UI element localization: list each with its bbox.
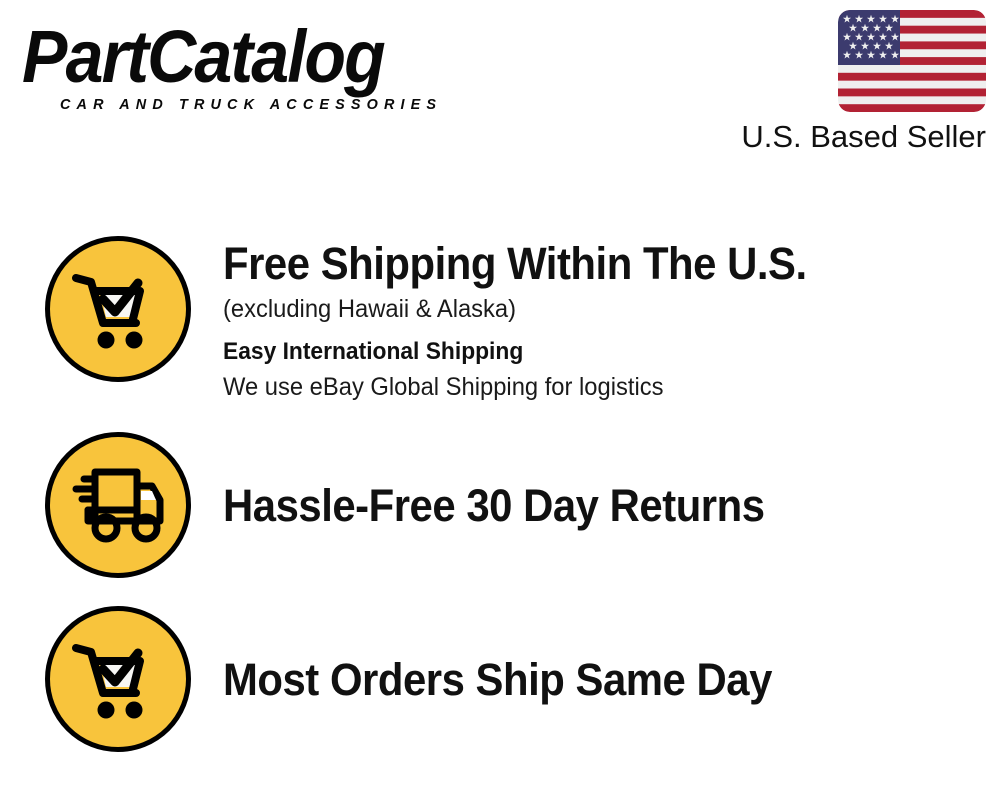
feature-subtitle-bold: Easy International Shipping [223, 335, 961, 369]
shopping-cart-check-icon [45, 606, 191, 752]
us-based-seller-badge: U.S. Based Seller [716, 10, 986, 156]
brand-logo: PartCatalog CAR AND TRUCK ACCESSORIES [22, 20, 492, 115]
brand-wordmark: PartCatalog [22, 20, 454, 94]
feature-text-block: Most Orders Ship Same Day [223, 652, 1000, 706]
delivery-truck-icon [45, 432, 191, 578]
feature-row: Hassle-Free 30 Day Returns [0, 432, 1000, 578]
feature-row: Most Orders Ship Same Day [0, 606, 1000, 752]
cart-check-glyph [70, 635, 166, 723]
feature-title: Most Orders Ship Same Day [223, 654, 946, 706]
cart-check-glyph [70, 265, 166, 353]
feature-subtitle: We use eBay Global Shipping for logistic… [223, 370, 961, 404]
brand-tagline: CAR AND TRUCK ACCESSORIES [60, 96, 442, 113]
feature-row: Free Shipping Within The U.S. (excluding… [0, 236, 1000, 404]
delivery-truck-glyph [68, 464, 168, 546]
feature-title: Hassle-Free 30 Day Returns [223, 480, 946, 532]
feature-title: Free Shipping Within The U.S. [223, 238, 946, 290]
feature-list: Free Shipping Within The U.S. (excluding… [0, 236, 1000, 776]
feature-text-block: Free Shipping Within The U.S. (excluding… [223, 236, 1000, 404]
feature-note: (excluding Hawaii & Alaska) [223, 292, 961, 326]
us-flag-icon [838, 10, 986, 112]
us-based-seller-label: U.S. Based Seller [716, 118, 986, 156]
feature-text-block: Hassle-Free 30 Day Returns [223, 478, 1000, 532]
shopping-cart-check-icon [45, 236, 191, 382]
page-header: PartCatalog CAR AND TRUCK ACCESSORIES [0, 0, 1000, 180]
